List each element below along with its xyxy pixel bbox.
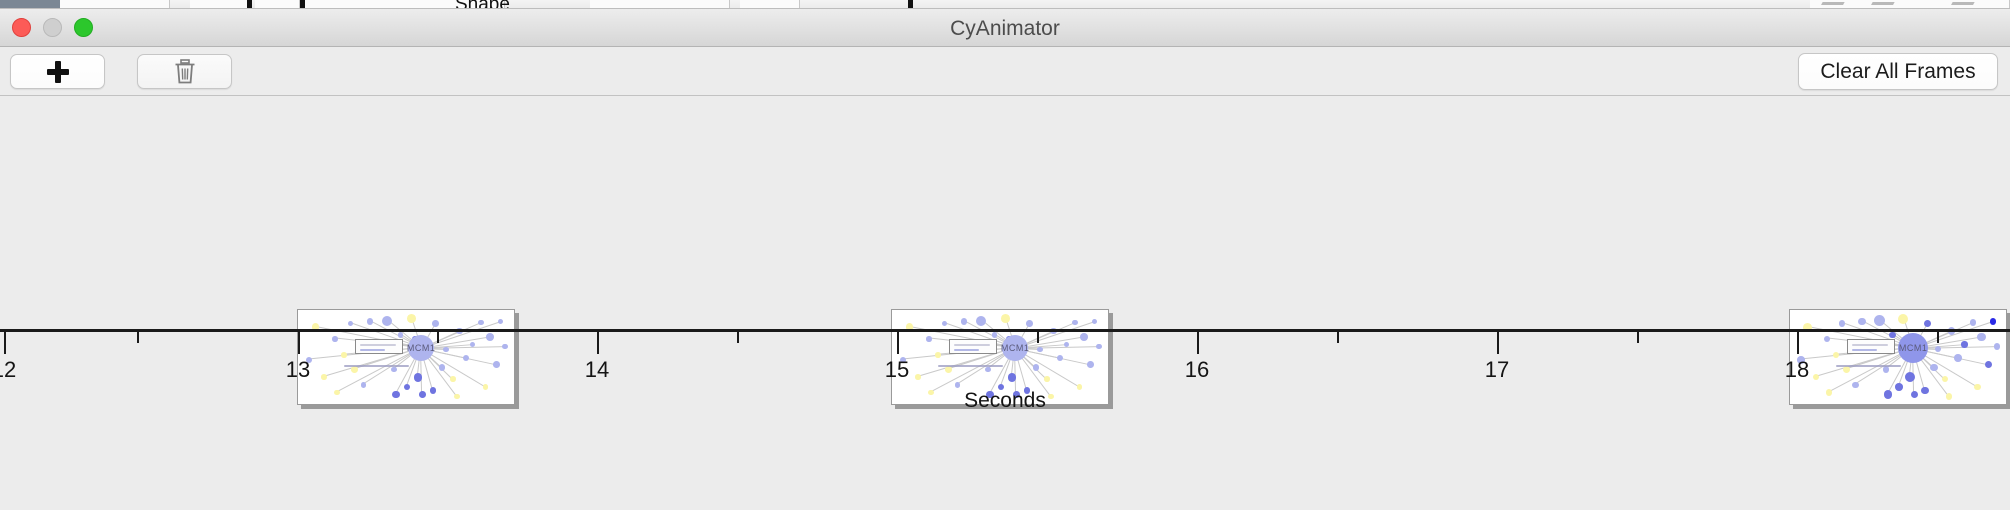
tick-minor: [1937, 332, 1939, 343]
plus-icon: [47, 61, 69, 83]
tick-minor: [437, 332, 439, 343]
tick-major: [1197, 332, 1199, 354]
cyanimator-window: CyAnimator Clear All Frames MCM1 MCM1: [0, 8, 2010, 510]
frames-track: MCM1 MCM1 MCM1: [0, 96, 2010, 329]
network-node: [1874, 315, 1885, 326]
network-node: [942, 321, 948, 327]
add-frame-button[interactable]: [10, 54, 105, 89]
trash-icon: [173, 58, 197, 86]
window-title: CyAnimator: [0, 17, 2010, 41]
tick-label: 12: [0, 357, 16, 383]
tick-label: 18: [1785, 357, 1809, 383]
network-node: [1924, 320, 1932, 328]
timeline-panel[interactable]: MCM1 MCM1 MCM1 12131415161718 Seconds: [0, 96, 2010, 426]
tick-minor: [1637, 332, 1639, 343]
network-node: [1858, 318, 1866, 326]
tick-minor: [737, 332, 739, 343]
axis-title: Seconds: [0, 389, 2010, 413]
tick-major: [897, 332, 899, 354]
tick-label: 14: [585, 357, 609, 383]
network-node: [407, 314, 416, 323]
tick-major: [298, 332, 300, 354]
delete-frame-button[interactable]: [137, 54, 232, 89]
tick-major: [1797, 332, 1799, 354]
network-node: [432, 320, 439, 327]
network-node: [961, 318, 968, 325]
frames-toolbar: Clear All Frames: [0, 47, 2010, 96]
network-node: [348, 321, 354, 327]
network-node: [498, 319, 504, 325]
tick-label: 17: [1485, 357, 1509, 383]
tick-label: 16: [1185, 357, 1209, 383]
network-node: [1970, 319, 1976, 325]
tick-minor: [1037, 332, 1039, 343]
axis-line: [0, 329, 2010, 332]
clear-all-frames-button[interactable]: Clear All Frames: [1798, 53, 1998, 90]
tick-minor: [1337, 332, 1339, 343]
network-node: [1026, 320, 1033, 327]
network-node: [382, 316, 392, 326]
tick-major: [1497, 332, 1499, 354]
tick-label: 13: [286, 357, 310, 383]
network-node: [367, 318, 374, 325]
tick-label: 15: [885, 357, 909, 383]
network-node: [976, 316, 986, 326]
network-node: [1990, 318, 1996, 324]
window-titlebar[interactable]: CyAnimator: [0, 9, 2010, 47]
time-ruler: 12131415161718 Seconds: [0, 329, 2010, 426]
network-node: [1092, 319, 1098, 325]
network-node: [1898, 314, 1908, 324]
tick-minor: [137, 332, 139, 343]
network-node: [1072, 320, 1078, 326]
tick-major: [597, 332, 599, 354]
network-node: [478, 320, 484, 326]
network-node: [1001, 314, 1010, 323]
tick-major: [4, 332, 6, 354]
network-node: [1839, 320, 1845, 326]
